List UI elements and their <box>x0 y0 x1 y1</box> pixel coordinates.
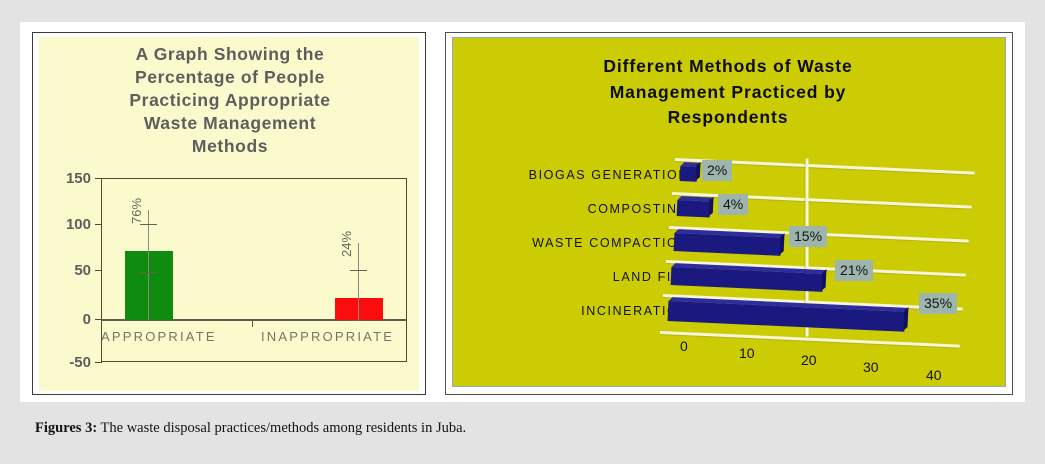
category-label-composting: COMPOSTING <box>439 202 689 216</box>
bar-incineration[interactable] <box>668 301 906 332</box>
y-tick-neg50 <box>95 362 102 363</box>
right-chart-title: Different Methods of Waste Management Pr… <box>493 54 963 131</box>
y-axis-label-neg50: -50 <box>45 354 91 371</box>
left-chart-panel: A Graph Showing the Percentage of People… <box>32 32 426 395</box>
error-bar-cap-upper-inappropriate <box>350 270 367 271</box>
category-label-waste-compaction: WASTE COMPACTION <box>439 236 689 250</box>
y-axis-label-150: 150 <box>45 170 91 187</box>
bar-land-fill[interactable] <box>671 267 824 292</box>
error-bar-line-inappropriate <box>358 243 359 321</box>
x-category-label-inappropriate: INAPPROPRIATE <box>261 329 394 344</box>
bar-composting[interactable] <box>677 200 711 217</box>
x-category-label-appropriate: APPROPRIATE <box>101 329 217 344</box>
data-label-inappropriate: 24% <box>339 231 354 257</box>
caption-text: The waste disposal practices/methods amo… <box>101 420 467 436</box>
error-bar-cap-lower-inappropriate <box>350 320 367 321</box>
x-axis-tick-30: 30 <box>863 359 879 375</box>
error-bar-cap-upper-appropriate <box>140 224 157 225</box>
bar-waste-compaction[interactable] <box>674 233 782 256</box>
left-title-line-3: Practicing Appropriate <box>57 89 403 112</box>
x-axis-tick-40: 40 <box>926 367 942 383</box>
caption-number: Figures 3: <box>35 420 97 436</box>
right-chart-panel: Different Methods of Waste Management Pr… <box>445 32 1013 395</box>
category-label-biogas-generation: BIOGAS GENERATION <box>439 168 689 182</box>
gridline-row-1-bottom <box>672 192 972 209</box>
error-bar-line-appropriate <box>148 210 149 320</box>
figure-caption: Figures 3: The waste disposal practices/… <box>35 420 466 437</box>
right-title-line-1: Different Methods of Waste <box>493 54 963 80</box>
category-label-land-fill: LAND FILL <box>439 270 689 284</box>
category-label-incineration: INCINERATION <box>439 304 689 318</box>
left-title-line-4: Waste Management <box>57 112 403 135</box>
value-label-composting: 4% <box>718 194 748 215</box>
value-label-incineration: 35% <box>919 293 957 314</box>
y-axis-label-0: 0 <box>45 311 91 328</box>
error-bar-cap-lower-appropriate <box>140 272 157 273</box>
left-chart-plot-area: A Graph Showing the Percentage of People… <box>39 37 419 391</box>
category-axis-tick <box>252 320 253 327</box>
y-axis-label-50: 50 <box>45 262 91 279</box>
data-label-appropriate: 76% <box>129 198 144 224</box>
charts-container: A Graph Showing the Percentage of People… <box>20 22 1025 402</box>
y-axis-label-100: 100 <box>45 216 91 233</box>
left-title-line-1: A Graph Showing the <box>57 43 403 66</box>
figure-card: A Graph Showing the Percentage of People… <box>0 0 1045 464</box>
bar-biogas-generation[interactable] <box>680 166 698 182</box>
x-axis-tick-10: 10 <box>739 345 755 361</box>
value-label-waste-compaction: 15% <box>789 226 827 247</box>
right-title-line-2: Management Practiced by <box>493 80 963 106</box>
left-title-line-5: Methods <box>57 135 403 158</box>
right-chart-3d-body: BIOGAS GENERATION COMPOSTING WASTE COMPA… <box>453 156 1007 386</box>
value-label-land-fill: 21% <box>835 260 873 281</box>
right-chart-plot-area: Different Methods of Waste Management Pr… <box>452 37 1006 387</box>
axis-baseline <box>660 331 960 348</box>
x-axis-tick-20: 20 <box>801 352 817 368</box>
value-label-biogas-generation: 2% <box>702 160 732 181</box>
left-title-line-2: Percentage of People <box>57 66 403 89</box>
left-chart-title: A Graph Showing the Percentage of People… <box>57 43 403 158</box>
right-title-line-3: Respondents <box>493 105 963 131</box>
x-axis-tick-0: 0 <box>680 338 688 354</box>
